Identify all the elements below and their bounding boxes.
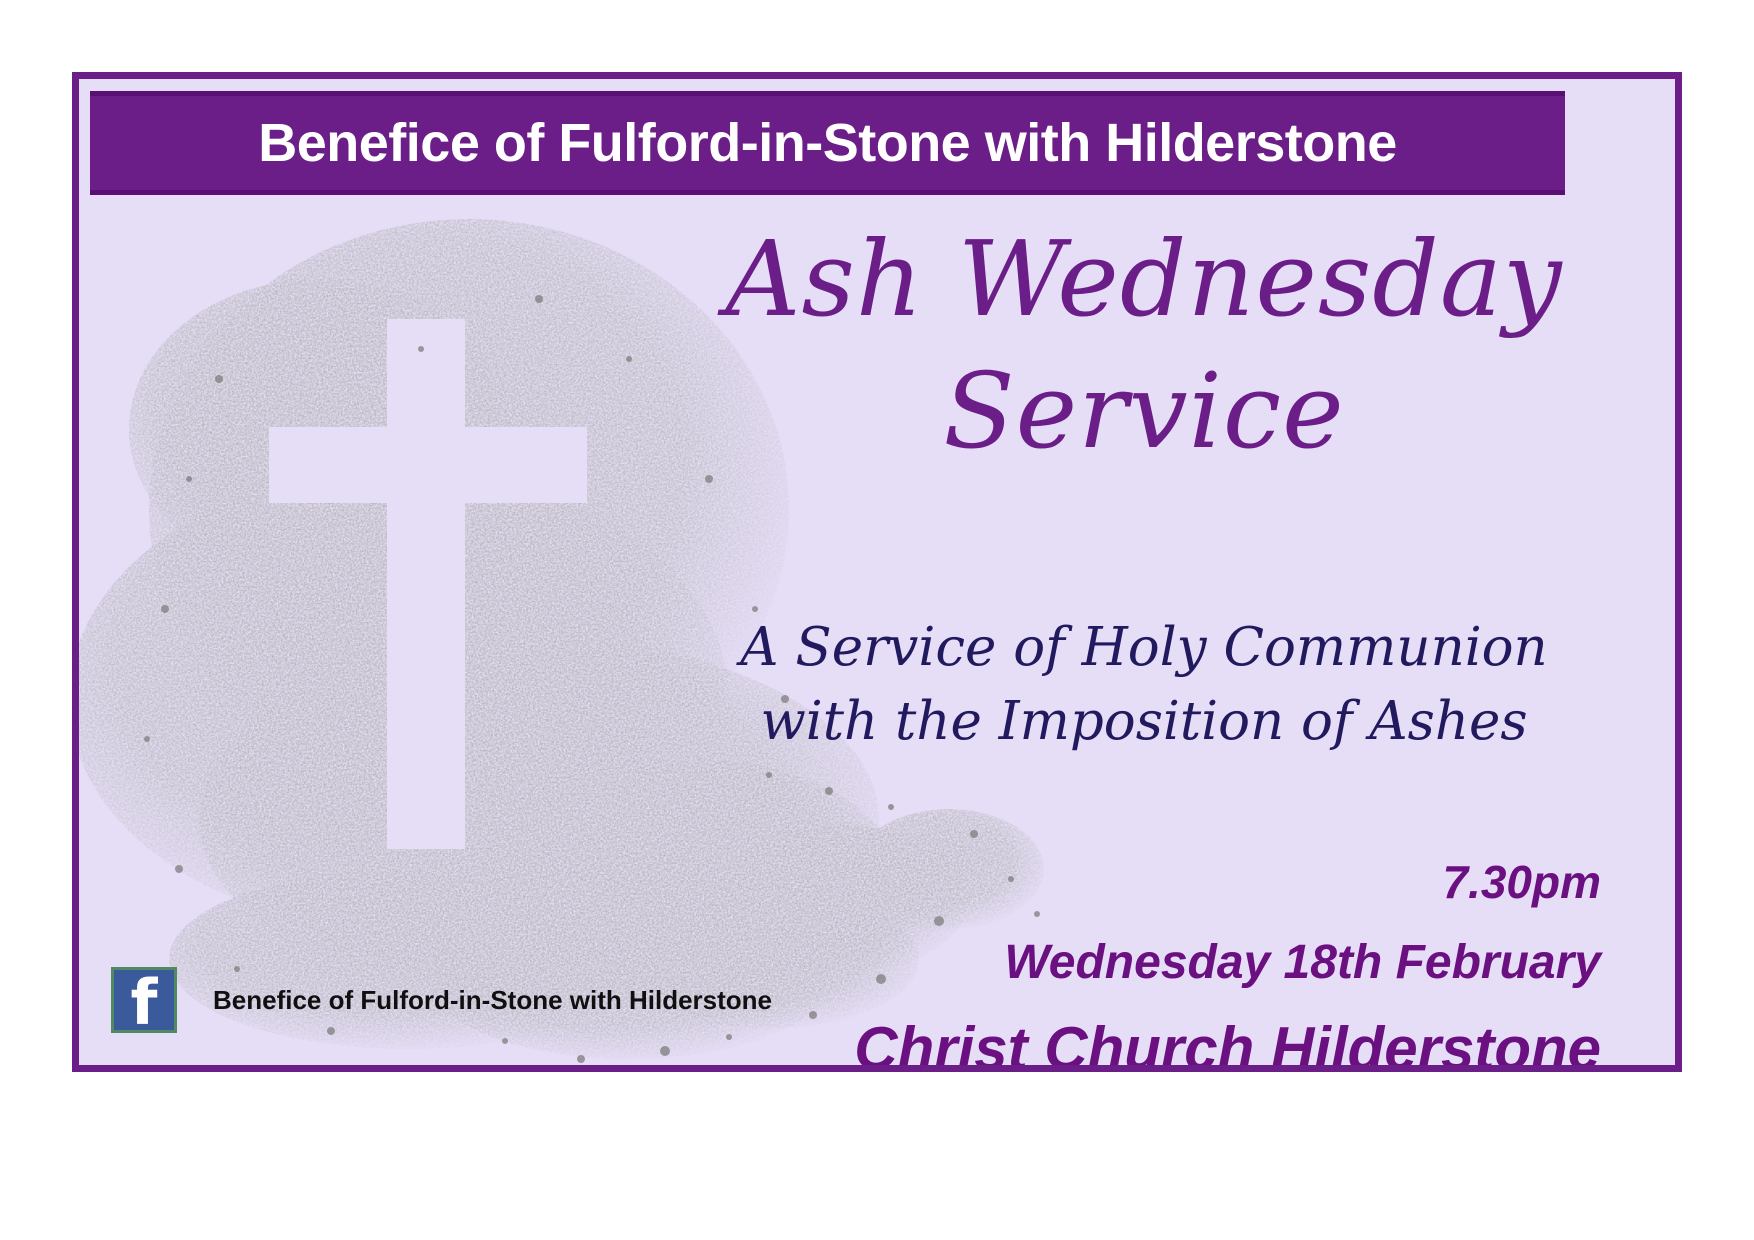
banner-edge-sliver bbox=[1565, 91, 1583, 195]
facebook-f-glyph: f bbox=[114, 972, 174, 1034]
facebook-credit[interactable]: f Benefice of Fulford-in-Stone with Hild… bbox=[111, 967, 772, 1033]
header-banner: Benefice of Fulford-in-Stone with Hilder… bbox=[90, 91, 1565, 195]
content-column: Ash Wednesday Service A Service of Holy … bbox=[679, 199, 1609, 1059]
facebook-page-name: Benefice of Fulford-in-Stone with Hilder… bbox=[213, 985, 772, 1016]
event-subtitle-line-2: with the Imposition of Ashes bbox=[679, 691, 1609, 752]
event-time: 7.30pm bbox=[1442, 859, 1601, 905]
event-title-line-1: Ash Wednesday bbox=[679, 227, 1609, 331]
poster-canvas: Benefice of Fulford-in-Stone with Hilder… bbox=[72, 72, 1682, 1072]
event-venue: Christ Church Hilderstone bbox=[854, 1019, 1601, 1072]
event-subtitle-line-1: A Service of Holy Communion bbox=[679, 617, 1609, 678]
event-title-line-2: Service bbox=[679, 359, 1609, 463]
benefice-title: Benefice of Fulford-in-Stone with Hilder… bbox=[258, 116, 1397, 170]
facebook-f-icon[interactable]: f bbox=[111, 967, 177, 1033]
event-date: Wednesday 18th February bbox=[1004, 939, 1601, 987]
